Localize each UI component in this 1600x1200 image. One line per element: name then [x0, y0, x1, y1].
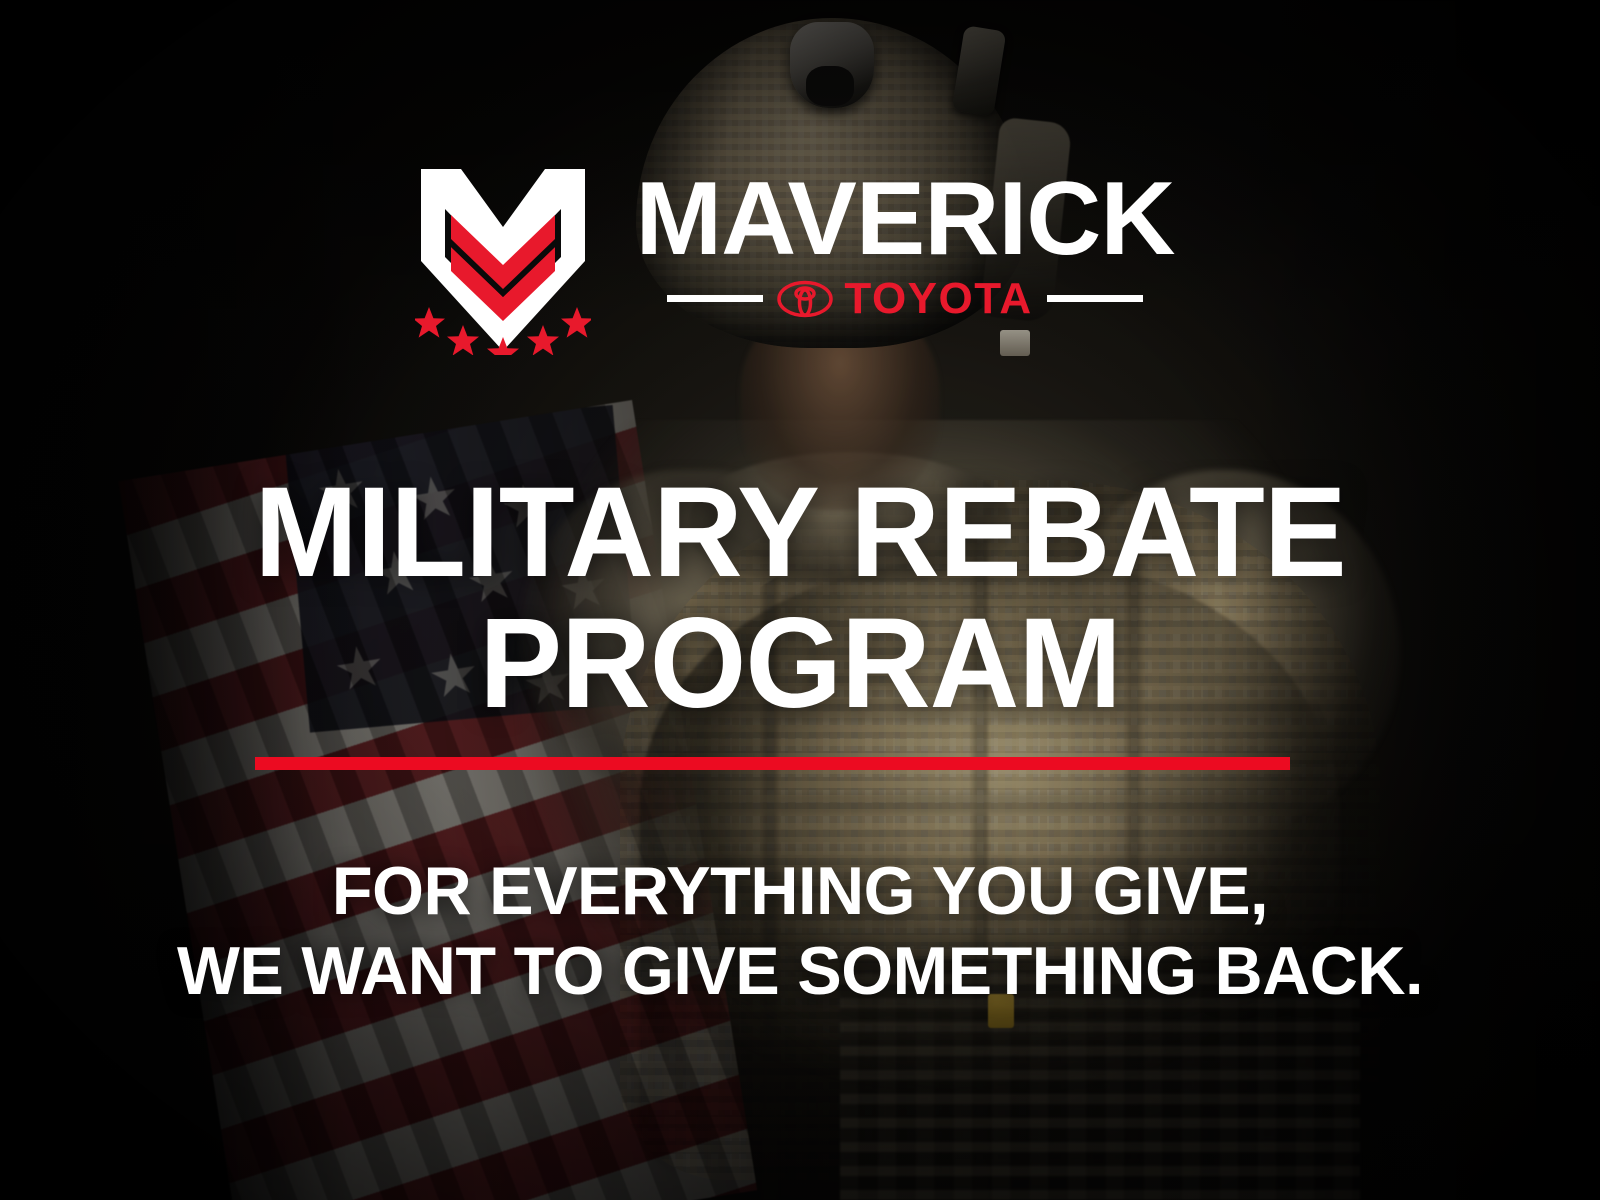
tagline: FOR EVERYTHING YOU GIVE, WE WANT TO GIVE… [16, 852, 1584, 1011]
headline-line-1: MILITARY REBATE [254, 461, 1345, 604]
toyota-wordmark: TOYOTA [844, 277, 1032, 321]
red-divider-rule [255, 757, 1290, 770]
maverick-chevron-emblem-icon [415, 165, 591, 355]
poster-content: MAVERICK TOYOTA MILITAR [0, 0, 1600, 1200]
brand-rule-right [1047, 295, 1143, 302]
brand-rule-left [667, 295, 763, 302]
toyota-ellipse-logo-icon [777, 280, 833, 318]
toyota-lockup: TOYOTA [777, 277, 1032, 321]
toyota-brand-row: TOYOTA [625, 277, 1185, 321]
wordmark-block: MAVERICK TOYOTA [625, 165, 1185, 321]
brand-lockup: MAVERICK TOYOTA [0, 165, 1600, 355]
page-title: MILITARY REBATE PROGRAM [24, 468, 1576, 729]
tagline-line-1: FOR EVERYTHING YOU GIVE, [332, 853, 1268, 929]
maverick-wordmark: MAVERICK [625, 171, 1185, 269]
tagline-line-2: WE WANT TO GIVE SOMETHING BACK. [16, 932, 1584, 1012]
headline-line-2: PROGRAM [24, 599, 1576, 730]
military-rebate-poster: MAVERICK TOYOTA MILITAR [0, 0, 1600, 1200]
